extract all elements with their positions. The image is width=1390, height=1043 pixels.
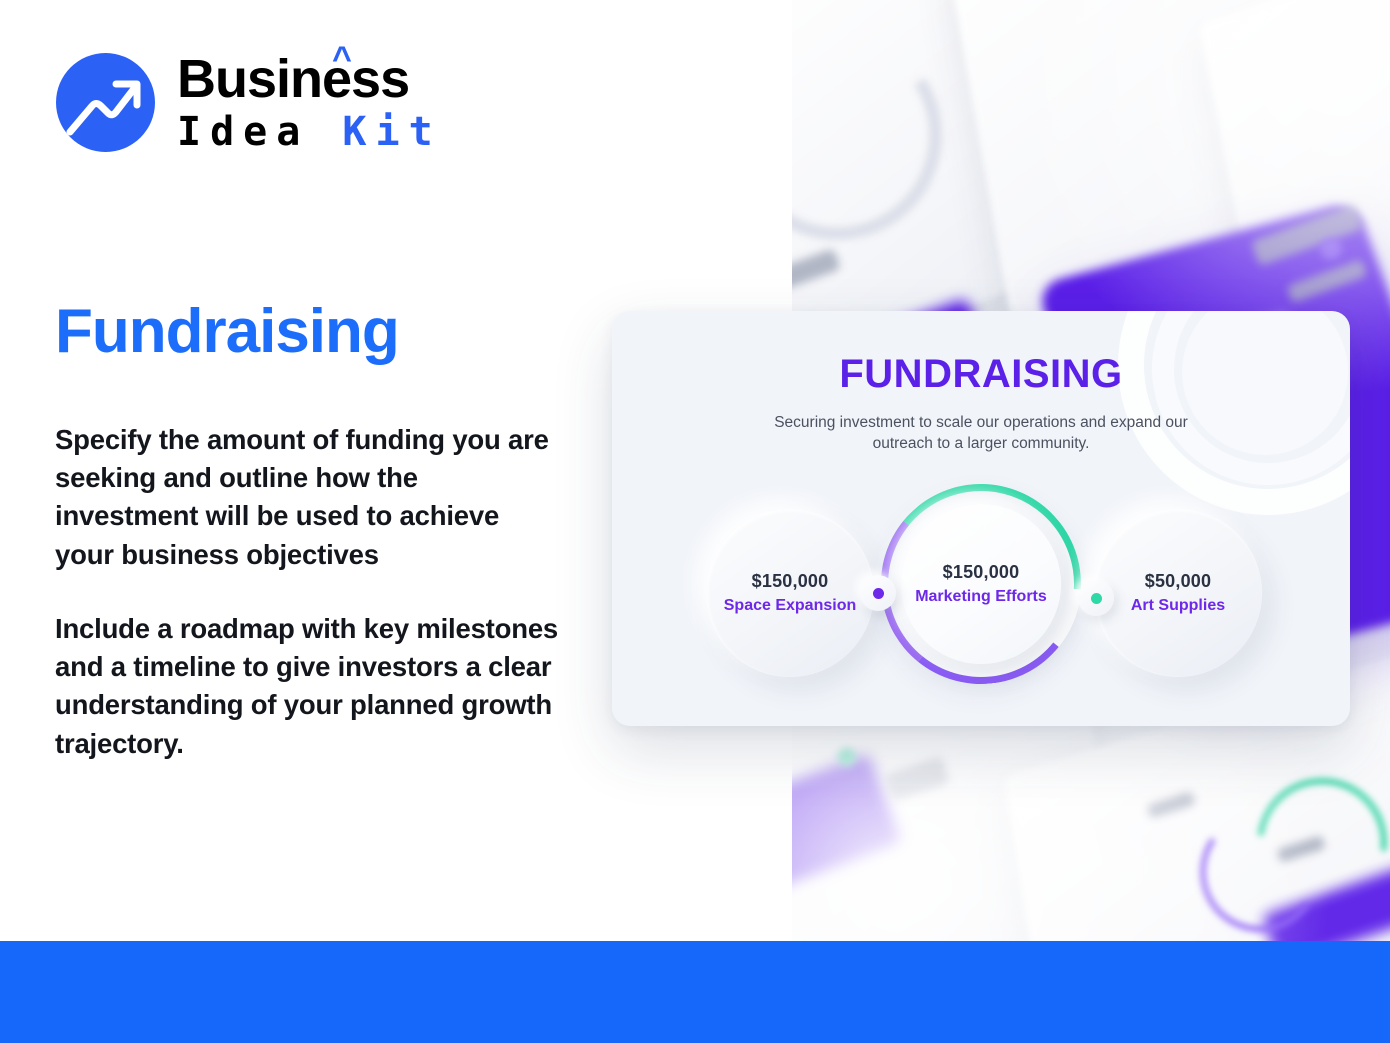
connector-node-right xyxy=(1078,580,1114,616)
body-paragraph-1: Specify the amount of funding you are se… xyxy=(55,421,565,574)
funding-label: Space Expansion xyxy=(724,597,857,615)
bg-dot xyxy=(838,748,856,766)
brand-name-text: Business xyxy=(177,49,409,109)
funding-amount: $150,000 xyxy=(943,562,1020,583)
funding-label: Art Supplies xyxy=(1131,597,1225,615)
funding-amount: $50,000 xyxy=(1145,571,1211,592)
funding-center-circle: $150,000 Marketing Efforts xyxy=(901,504,1061,664)
funding-item-art-supplies[interactable]: $50,000 Art Supplies xyxy=(1094,509,1262,677)
funding-label: Marketing Efforts xyxy=(915,588,1047,606)
bg-dot xyxy=(1320,238,1342,260)
brand-name-line2: Idea Kit xyxy=(177,112,442,152)
funding-amount: $150,000 xyxy=(752,571,829,592)
brand-logo[interactable]: Business ^ Idea Kit xyxy=(56,52,442,152)
card-title: FUNDRAISING xyxy=(612,352,1350,397)
slide-page: Business ^ Idea Kit Fundraising Specify … xyxy=(0,0,1390,1043)
page-title: Fundraising xyxy=(55,296,399,367)
trend-up-arrow-icon xyxy=(56,53,155,152)
connector-dot-purple xyxy=(873,588,884,599)
funding-item-marketing-efforts[interactable]: $150,000 Marketing Efforts xyxy=(871,465,1091,723)
brand-name-kit: Kit xyxy=(342,109,441,155)
body-paragraph-2: Include a roadmap with key milestones an… xyxy=(55,610,565,763)
funding-item-space-expansion[interactable]: $150,000 Space Expansion xyxy=(706,509,874,677)
fundraising-preview-card[interactable]: FUNDRAISING Securing investment to scale… xyxy=(612,311,1350,726)
brand-name-idea: Idea xyxy=(177,109,309,155)
circumflex-accent-icon: ^ xyxy=(332,42,351,76)
brand-name-line1: Business ^ xyxy=(177,52,442,106)
funding-allocation-diagram: $150,000 Space Expansion $150,000 Market… xyxy=(612,503,1350,703)
card-subtitle: Securing investment to scale our operati… xyxy=(751,413,1211,455)
footer-bar xyxy=(0,941,1390,1043)
connector-node-left xyxy=(860,575,896,611)
connector-dot-green xyxy=(1091,593,1102,604)
